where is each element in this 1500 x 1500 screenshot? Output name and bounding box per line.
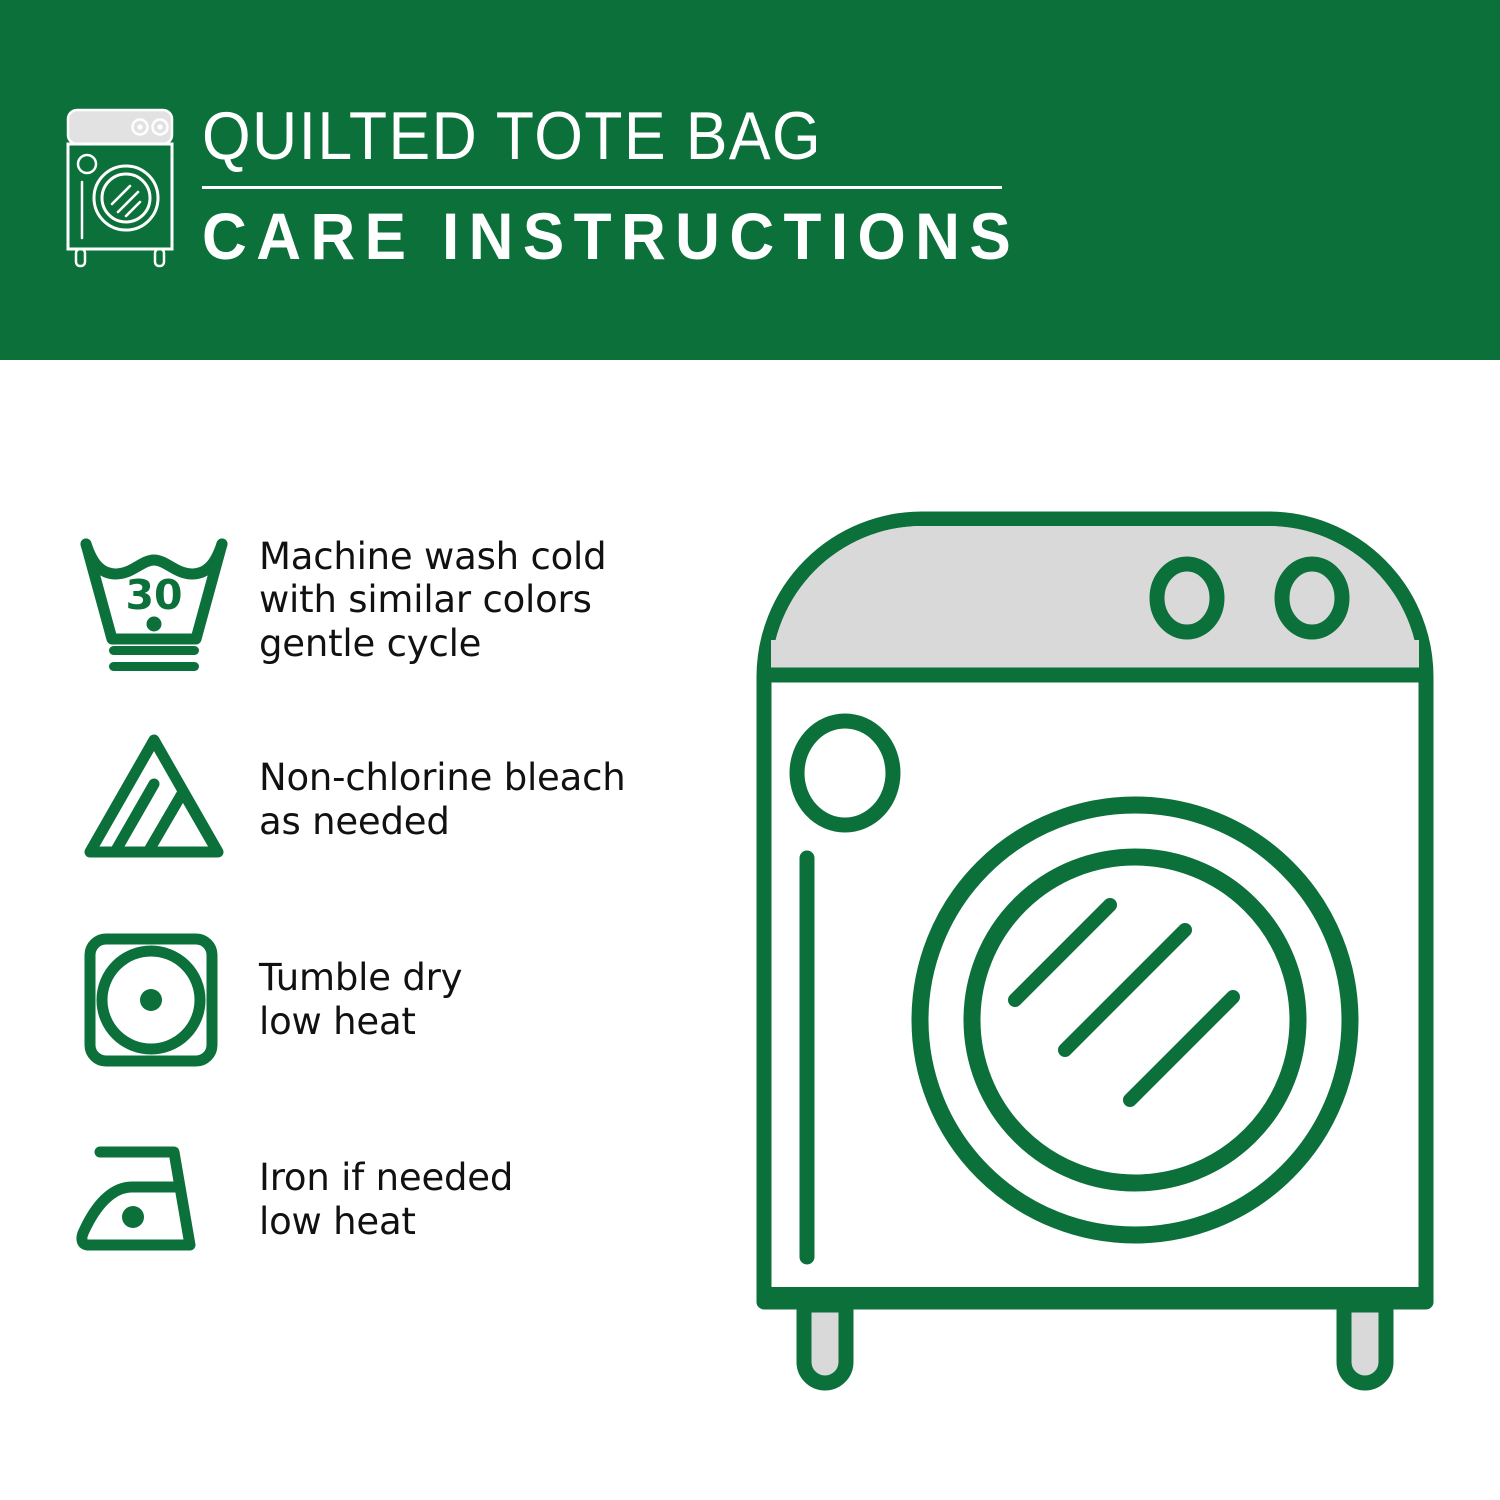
care-instruction-list: 30 Machine wash cold with similar colors… <box>70 500 710 1300</box>
machine-wash-30-symbol: 30 <box>70 526 238 674</box>
header-text-block: QUILTED TOTE BAG CARE INSTRUCTIONS <box>202 100 1072 269</box>
care-symbol-slot <box>70 726 245 874</box>
care-symbol-slot: 30 <box>70 526 245 674</box>
header-content: QUILTED TOTE BAG CARE INSTRUCTIONS <box>60 100 1072 271</box>
washing-machine-illustration <box>735 490 1455 1440</box>
care-symbol-slot <box>70 926 245 1074</box>
machine-base <box>764 1287 1426 1309</box>
header-banner: QUILTED TOTE BAG CARE INSTRUCTIONS <box>0 0 1500 360</box>
care-symbol-slot <box>70 1135 245 1265</box>
machine-leg-left <box>804 1305 846 1383</box>
tumble-dry-low-symbol <box>70 926 238 1074</box>
wash-temperature-label: 30 <box>125 571 182 619</box>
care-label-bleach: Non-chlorine bleach as needed <box>245 756 626 843</box>
iron-low-heat-symbol <box>70 1135 238 1265</box>
care-row-tumble-dry: Tumble dry low heat <box>70 900 710 1100</box>
machine-leg-right <box>1344 1305 1386 1383</box>
care-row-iron: Iron if needed low heat <box>70 1100 710 1300</box>
title-divider <box>202 186 1002 189</box>
page-subtitle: CARE INSTRUCTIONS <box>202 203 1020 269</box>
care-row-bleach: Non-chlorine bleach as needed <box>70 700 710 900</box>
washing-machine-icon <box>60 106 180 271</box>
care-label-tumble-dry: Tumble dry low heat <box>245 956 462 1043</box>
care-label-machine-wash: Machine wash cold with similar colors ge… <box>245 535 606 666</box>
page-title: QUILTED TOTE BAG <box>202 102 1003 170</box>
non-chlorine-bleach-symbol <box>70 726 238 874</box>
care-row-machine-wash: 30 Machine wash cold with similar colors… <box>70 500 710 700</box>
washing-machine-graphic <box>735 490 1455 1440</box>
care-label-iron: Iron if needed low heat <box>245 1156 513 1243</box>
